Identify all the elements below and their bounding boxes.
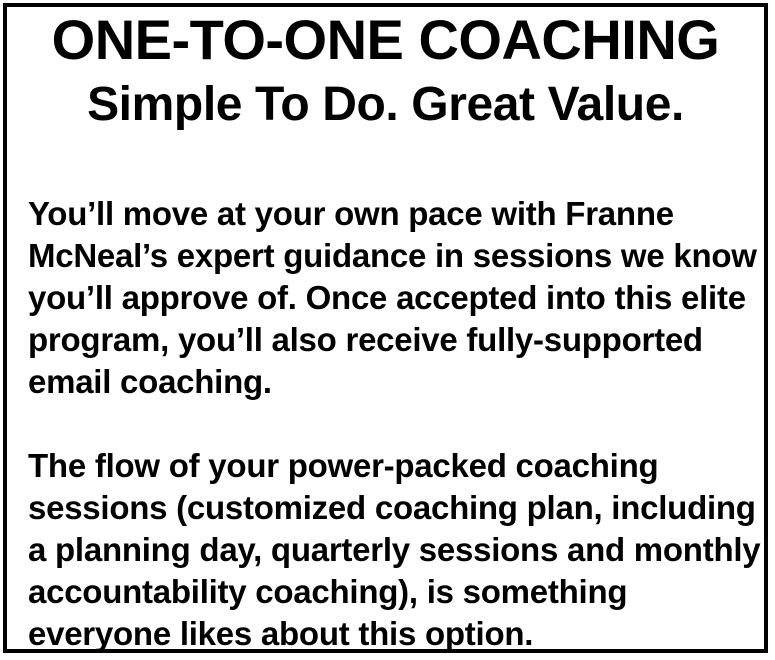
body-paragraph-2: The flow of your power-packed coaching s… [28, 445, 764, 655]
paragraph-spacer [28, 403, 764, 445]
body-paragraph-1: You’ll move at your own pace with Franne… [28, 193, 764, 403]
card-body: You’ll move at your own pace with Franne… [28, 193, 764, 655]
page-subtitle: Simple To Do. Great Value. [7, 69, 764, 131]
page-title: ONE-TO-ONE COACHING [7, 7, 764, 69]
card-header: ONE-TO-ONE COACHING Simple To Do. Great … [7, 7, 764, 131]
coaching-offer-card: ONE-TO-ONE COACHING Simple To Do. Great … [3, 3, 768, 653]
